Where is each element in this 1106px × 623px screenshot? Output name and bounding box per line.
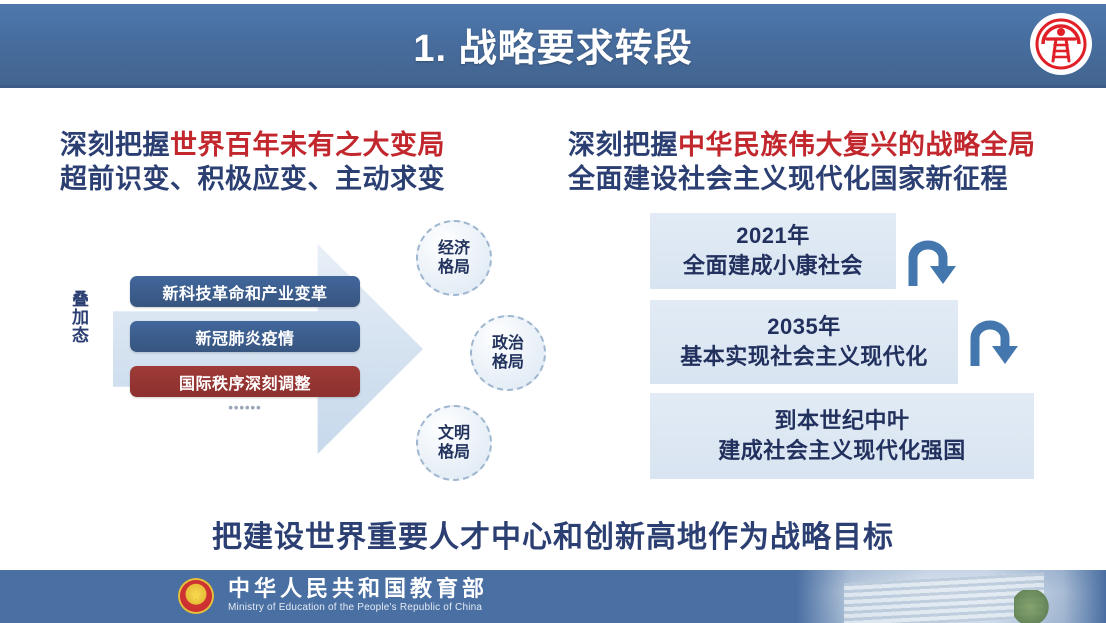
- outcome-circle-politics: 政治 格局: [470, 315, 546, 391]
- right-heading: 深刻把握中华民族伟大复兴的战略全局 全面建设社会主义现代化国家新征程: [568, 128, 1068, 196]
- left-heading-line1: 深刻把握世界百年未有之大变局: [60, 128, 540, 162]
- national-emblem-icon: ★: [178, 578, 214, 614]
- milestone-box-2021-text: 全面建成小康社会: [683, 251, 863, 281]
- ministry-name: 中华人民共和国教育部 Ministry of Education of the …: [228, 576, 488, 615]
- left-heading: 深刻把握世界百年未有之大变局 超前识变、积极应变、主动求变: [60, 128, 540, 196]
- emblem-star: ★: [189, 588, 202, 603]
- page-title: 1. 战略要求转段: [0, 4, 1106, 85]
- milestone-box-2021: 2021年 全面建成小康社会: [650, 213, 896, 289]
- left-diagram: 叠加态 新科技革命和产业变革 新冠肺炎疫情 国际秩序深刻调整 •••••• 经济…: [60, 218, 560, 480]
- ministry-name-cn: 中华人民共和国教育部: [228, 576, 488, 601]
- milestone-box-2021-year: 2021年: [736, 221, 809, 251]
- milestone-box-2035: 2035年 基本实现社会主义现代化: [650, 300, 958, 384]
- factor-bar-2: 新冠肺炎疫情: [130, 321, 360, 352]
- factor-bar-3: 国际秩序深刻调整: [130, 366, 360, 397]
- bottom-statement: 把建设世界重要人才中心和创新高地作为战略目标: [0, 512, 1106, 556]
- outcome-circle-civilization-line1: 文明: [438, 424, 470, 443]
- right-heading-line1-highlight: 中华民族伟大复兴的战略全局: [678, 130, 1036, 160]
- building-photo: [796, 570, 1106, 623]
- factor-bar-1: 新科技革命和产业变革: [130, 276, 360, 307]
- outcome-circle-economy-line1: 经济: [438, 239, 470, 258]
- milestone-box-midcentury: 到本世纪中叶 建成社会主义现代化强国: [650, 393, 1034, 479]
- outcome-circle-politics-line2: 格局: [492, 353, 524, 372]
- milestone-box-midcentury-text: 建成社会主义现代化强国: [718, 436, 966, 466]
- right-heading-line1-prefix: 深刻把握: [568, 130, 678, 160]
- right-heading-line1: 深刻把握中华民族伟大复兴的战略全局: [568, 128, 1068, 162]
- curved-down-arrow-icon-1: [906, 238, 964, 290]
- outcome-circle-economy: 经济 格局: [416, 220, 492, 296]
- ministry-name-en: Ministry of Education of the People's Re…: [228, 601, 488, 615]
- milestone-box-2035-year: 2035年: [767, 312, 840, 342]
- right-heading-line2: 全面建设社会主义现代化国家新征程: [568, 162, 1068, 196]
- overlay-state-label: 叠加态: [70, 290, 87, 344]
- outcome-circle-economy-line2: 格局: [438, 258, 470, 277]
- university-emblem-icon: [1030, 13, 1092, 75]
- milestone-box-2035-text: 基本实现社会主义现代化: [680, 342, 928, 372]
- outcome-circle-civilization: 文明 格局: [416, 405, 492, 481]
- slide-root: 1. 战略要求转段 深刻把握世界百年未有之大变局 超前识变、积极应变、主动求变 …: [0, 0, 1106, 623]
- left-heading-line2: 超前识变、积极应变、主动求变: [60, 162, 540, 196]
- slide-header: 1. 战略要求转段: [0, 4, 1106, 88]
- left-heading-line1-prefix: 深刻把握: [60, 130, 170, 160]
- right-diagram: 2021年 全面建成小康社会 2035年 基本实现社会主义现代化 到本世纪中叶 …: [568, 205, 1078, 485]
- outcome-circle-politics-line1: 政治: [492, 334, 524, 353]
- left-heading-line1-highlight: 世界百年未有之大变局: [170, 130, 445, 160]
- milestone-box-midcentury-period: 到本世纪中叶: [774, 406, 909, 436]
- curved-down-arrow-icon-2: [968, 318, 1026, 370]
- slide-footer: ★ 中华人民共和国教育部 Ministry of Education of th…: [0, 570, 1106, 623]
- ministry-brand: ★ 中华人民共和国教育部 Ministry of Education of th…: [178, 576, 488, 615]
- outcome-circle-civilization-line2: 格局: [438, 443, 470, 462]
- tree-shape: [1014, 590, 1050, 623]
- ellipsis-dots: ••••••: [130, 400, 360, 415]
